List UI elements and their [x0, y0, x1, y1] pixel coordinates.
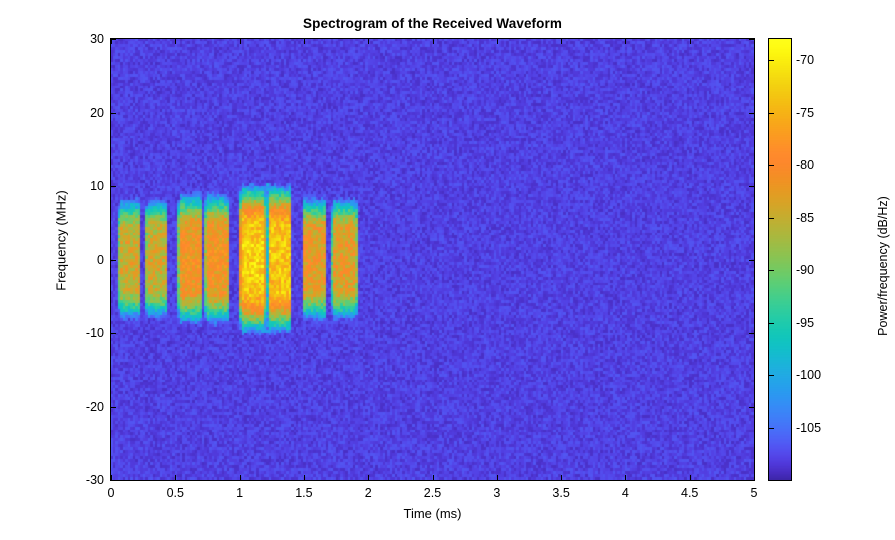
x-tick-label: 4	[622, 486, 629, 500]
y-axis-tick	[749, 113, 754, 114]
y-axis-tick	[111, 407, 116, 408]
colorbar	[768, 38, 792, 481]
x-axis-tick	[240, 475, 241, 480]
y-axis-label: Frequency (MHz)	[54, 161, 69, 321]
y-tick-label: 30	[64, 32, 104, 46]
x-axis-tick	[433, 475, 434, 480]
x-axis-tick	[368, 39, 369, 44]
x-axis-tick	[175, 475, 176, 480]
y-tick-label: -10	[64, 326, 104, 340]
y-axis-tick	[749, 407, 754, 408]
colorbar-gradient	[769, 39, 791, 480]
colorbar-tick-label: -100	[796, 368, 821, 382]
x-axis-tick	[368, 475, 369, 480]
x-axis-tick	[304, 39, 305, 44]
colorbar-tick	[769, 218, 774, 219]
colorbar-tick	[769, 165, 774, 166]
colorbar-tick	[769, 323, 774, 324]
x-axis-tick	[625, 39, 626, 44]
colorbar-tick-label: -95	[796, 316, 814, 330]
colorbar-tick-label: -70	[796, 53, 814, 67]
y-axis-tick	[749, 480, 754, 481]
y-tick-label: -30	[64, 473, 104, 487]
spectrogram-figure: Spectrogram of the Received Waveform 00.…	[0, 0, 895, 540]
colorbar-tick-label: -90	[796, 263, 814, 277]
x-axis-tick	[433, 39, 434, 44]
x-axis-tick	[754, 475, 755, 480]
y-tick-label: 20	[64, 106, 104, 120]
colorbar-tick	[769, 428, 774, 429]
x-tick-label: 2.5	[424, 486, 441, 500]
x-axis-tick	[754, 39, 755, 44]
y-axis-tick	[111, 186, 116, 187]
y-axis-tick	[111, 113, 116, 114]
colorbar-tick-label: -75	[796, 106, 814, 120]
y-tick-label: 10	[64, 179, 104, 193]
spectrogram-heatmap	[111, 39, 754, 480]
page-title: Spectrogram of the Received Waveform	[110, 16, 755, 31]
colorbar-tick-label: -105	[796, 421, 821, 435]
x-tick-label: 1	[236, 486, 243, 500]
colorbar-tick-label: -80	[796, 158, 814, 172]
y-axis-tick	[111, 260, 116, 261]
y-axis-tick	[111, 39, 116, 40]
x-tick-label: 0.5	[167, 486, 184, 500]
colorbar-tick	[769, 113, 774, 114]
x-axis-tick	[625, 475, 626, 480]
x-tick-label: 3	[493, 486, 500, 500]
y-tick-label: -20	[64, 400, 104, 414]
x-axis-tick	[240, 39, 241, 44]
y-axis-tick	[749, 333, 754, 334]
x-axis-tick	[690, 39, 691, 44]
y-axis-tick	[749, 260, 754, 261]
x-axis-label: Time (ms)	[110, 506, 755, 521]
x-axis-tick	[561, 39, 562, 44]
x-tick-label: 0	[108, 486, 115, 500]
colorbar-title: Power/frequency (dB/Hz)	[876, 151, 890, 381]
x-tick-label: 3.5	[552, 486, 569, 500]
colorbar-tick	[769, 270, 774, 271]
x-axis-tick	[690, 475, 691, 480]
x-tick-label: 1.5	[295, 486, 312, 500]
x-axis-tick	[175, 39, 176, 44]
y-tick-label: 0	[64, 253, 104, 267]
y-axis-tick	[111, 333, 116, 334]
colorbar-tick	[769, 375, 774, 376]
x-tick-label: 5	[751, 486, 758, 500]
y-axis-tick	[111, 480, 116, 481]
x-axis-tick	[497, 39, 498, 44]
colorbar-tick	[769, 60, 774, 61]
plot-area	[110, 38, 755, 481]
x-tick-label: 2	[365, 486, 372, 500]
x-axis-tick	[304, 475, 305, 480]
x-axis-tick	[497, 475, 498, 480]
x-axis-tick	[561, 475, 562, 480]
y-axis-tick	[749, 39, 754, 40]
x-tick-label: 4.5	[681, 486, 698, 500]
y-axis-tick	[749, 186, 754, 187]
colorbar-tick-label: -85	[796, 211, 814, 225]
